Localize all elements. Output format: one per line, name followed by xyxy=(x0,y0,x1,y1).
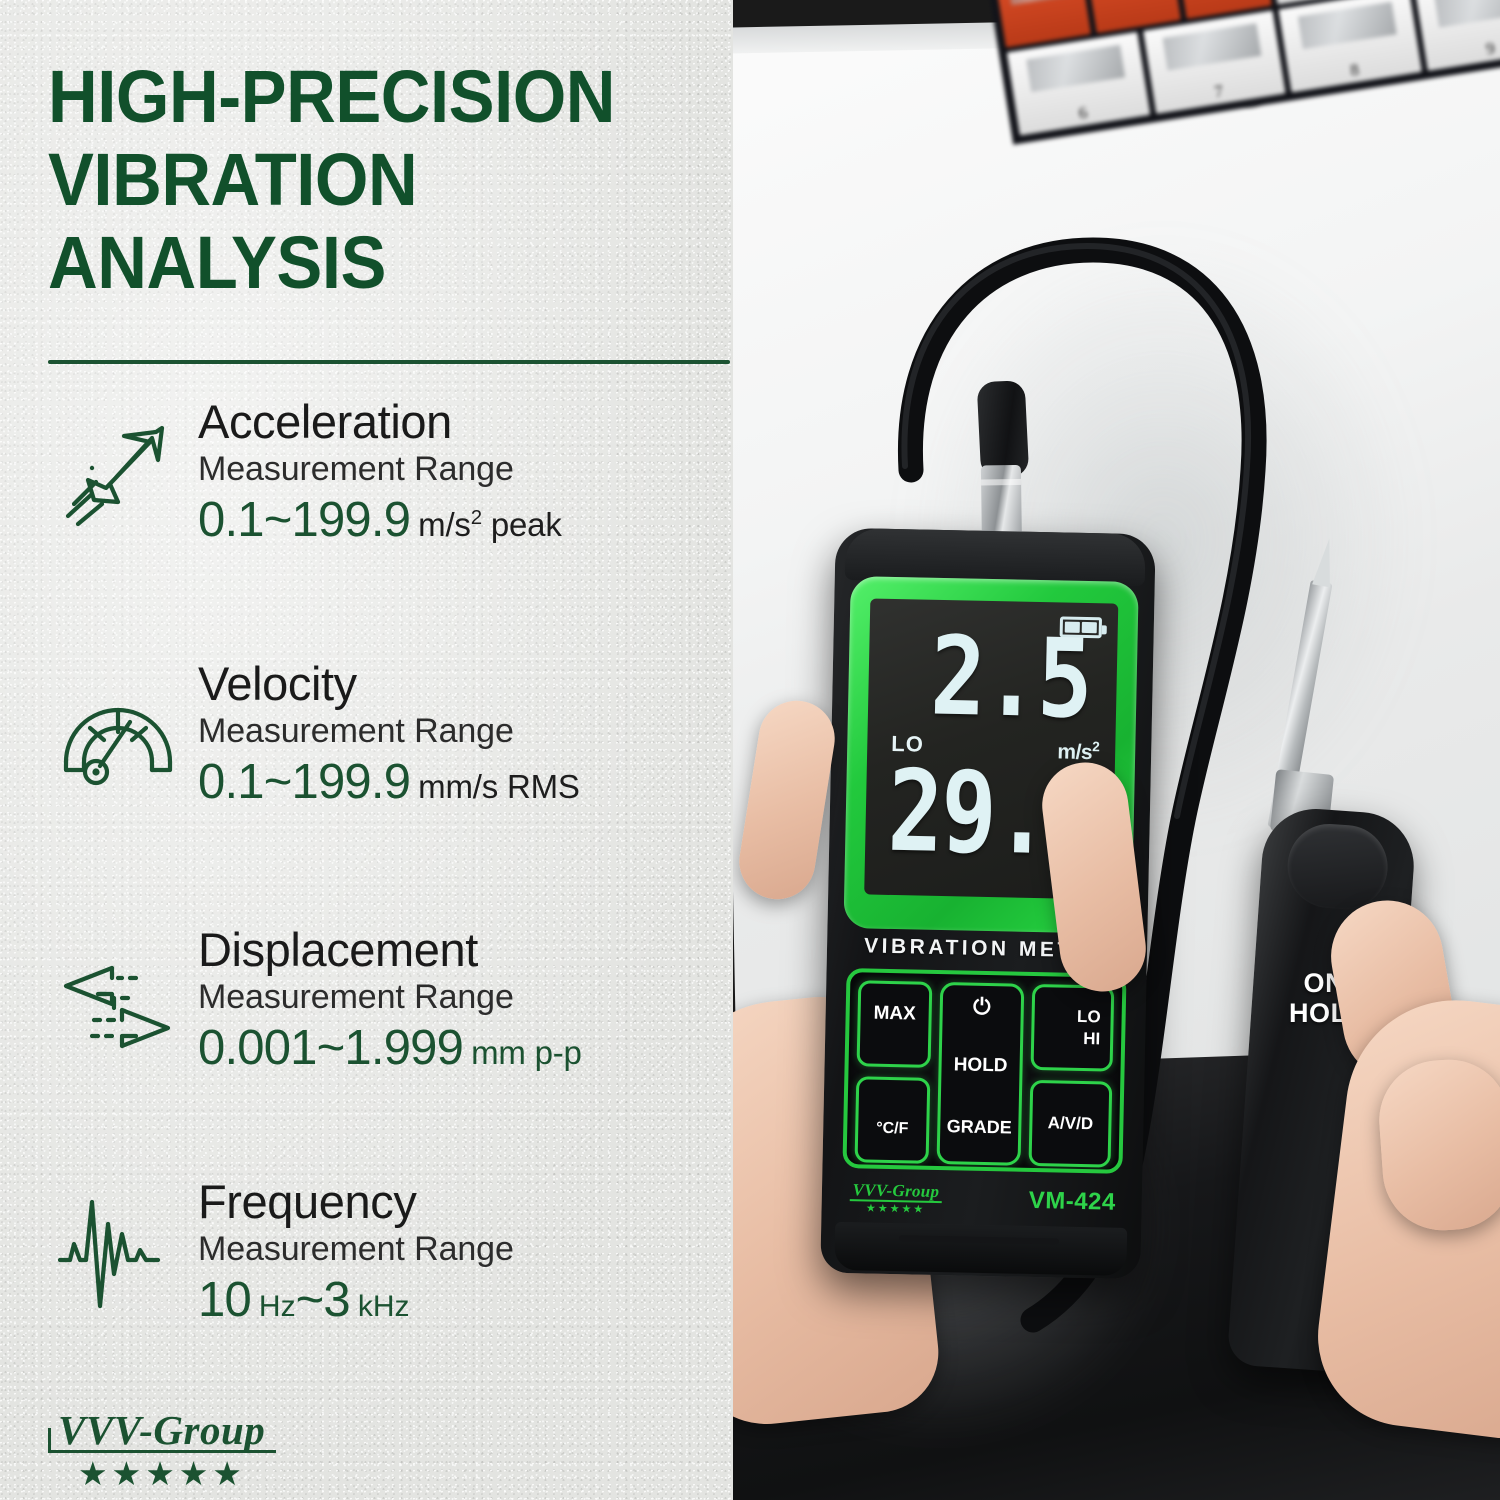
feature-title: Acceleration xyxy=(198,398,730,447)
brand-logo: VVV-Group ★★★★★ xyxy=(48,1406,288,1490)
feature-unit-khz: kHz xyxy=(358,1290,410,1323)
feature-value-unit: m/s2 peak xyxy=(418,506,561,543)
feature-value: 0.1~199.9mm/s RMS xyxy=(198,756,730,810)
feature-row-velocity: Velocity Measurement Range 0.1~199.9mm/s… xyxy=(44,660,730,810)
keypad-key-8: 8 xyxy=(1278,0,1421,92)
feature-value: 10Hz~3kHz xyxy=(198,1274,730,1328)
acceleration-arrow-icon xyxy=(44,400,190,546)
device-wordmark: VVV-Group xyxy=(850,1180,942,1202)
displacement-arrows-icon xyxy=(44,928,190,1074)
brand-rule xyxy=(48,1450,276,1453)
spec-panel: HIGH-PRECISION VIBRATION ANALYSIS Accele… xyxy=(0,0,733,1500)
feature-row-frequency: Frequency Measurement Range 10Hz~3kHz xyxy=(44,1178,730,1328)
page-title: HIGH-PRECISION VIBRATION ANALYSIS xyxy=(48,56,680,305)
power-hold-grade-button[interactable]: ⏻ HOLD GRADE xyxy=(937,982,1025,1166)
keypad-key-9: 9 xyxy=(1414,0,1500,71)
title-line-3: ANALYSIS xyxy=(48,222,680,305)
feature-value-unit: mm/s RMS xyxy=(418,768,580,805)
max-button[interactable]: MAX xyxy=(857,980,933,1068)
title-line-1: HIGH-PRECISION xyxy=(48,56,680,139)
feature-value-number: 0.001~1.999 xyxy=(198,1021,463,1075)
hold-label: HOLD xyxy=(953,1055,1007,1077)
lcd-primary-value: 2.5 xyxy=(929,624,1091,734)
feature-row-acceleration: Acceleration Measurement Range 0.1~199.9… xyxy=(44,398,730,548)
model-number: VM-424 xyxy=(1028,1187,1116,1217)
feature-subtitle: Measurement Range xyxy=(198,1229,730,1270)
feature-subtitle: Measurement Range xyxy=(198,977,730,1018)
device-stars: ★★★★★ xyxy=(849,1201,941,1216)
product-photo: 6 7 8 9 2.5 m/s2 xyxy=(733,0,1500,1500)
feature-value-number-b: ~3 xyxy=(296,1273,350,1327)
feature-title: Frequency xyxy=(198,1178,730,1227)
feature-value-unit: mm p-p xyxy=(471,1034,582,1071)
cable-boot xyxy=(977,380,1030,478)
device-footer: VVV-Group ★★★★★ VM-424 xyxy=(821,1180,1142,1221)
power-icon: ⏻ xyxy=(973,996,991,1018)
title-divider xyxy=(48,360,730,364)
feature-value-number: 0.1~199.9 xyxy=(198,755,410,809)
keypad-panel: MAX °C/F ⏻ HOLD GRADE LO HI A/V/D xyxy=(842,968,1126,1174)
feature-value: 0.001~1.999mm p-p xyxy=(198,1022,730,1076)
keypad-key-6: 6 xyxy=(1007,31,1150,135)
feature-subtitle: Measurement Range xyxy=(198,449,730,490)
grade-label: GRADE xyxy=(947,1117,1012,1138)
keypad-key-7: 7 xyxy=(1143,10,1286,114)
brand-wordmark: VVV-Group xyxy=(48,1406,288,1454)
lo-hi-button[interactable]: LO HI xyxy=(1031,984,1115,1072)
feature-title: Velocity xyxy=(198,660,730,709)
feature-value-number-a: 10 xyxy=(198,1273,251,1327)
frequency-waveform-icon xyxy=(44,1180,190,1326)
feature-value-number: 0.1~199.9 xyxy=(198,493,410,547)
lo-label: LO xyxy=(1077,1008,1101,1027)
celsius-fahrenheit-button[interactable]: °C/F xyxy=(855,1076,931,1164)
feature-row-displacement: Displacement Measurement Range 0.001~1.9… xyxy=(44,926,730,1076)
infographic-page: HIGH-PRECISION VIBRATION ANALYSIS Accele… xyxy=(0,0,1500,1500)
device-brand-logo: VVV-Group ★★★★★ xyxy=(849,1180,942,1216)
probe-button[interactable] xyxy=(1285,821,1391,912)
hi-label: HI xyxy=(1083,1030,1100,1049)
feature-title: Displacement xyxy=(198,926,730,975)
velocity-gauge-icon xyxy=(44,662,190,808)
feature-unit-hz: Hz xyxy=(259,1290,296,1323)
feature-subtitle: Measurement Range xyxy=(198,711,730,752)
meter-bottom-cap xyxy=(834,1222,1127,1276)
acceleration-velocity-displacement-button[interactable]: A/V/D xyxy=(1029,1080,1113,1168)
brand-stars: ★★★★★ xyxy=(48,1457,276,1490)
feature-value: 0.1~199.9m/s2 peak xyxy=(198,494,730,548)
title-line-2: VIBRATION xyxy=(48,139,680,222)
